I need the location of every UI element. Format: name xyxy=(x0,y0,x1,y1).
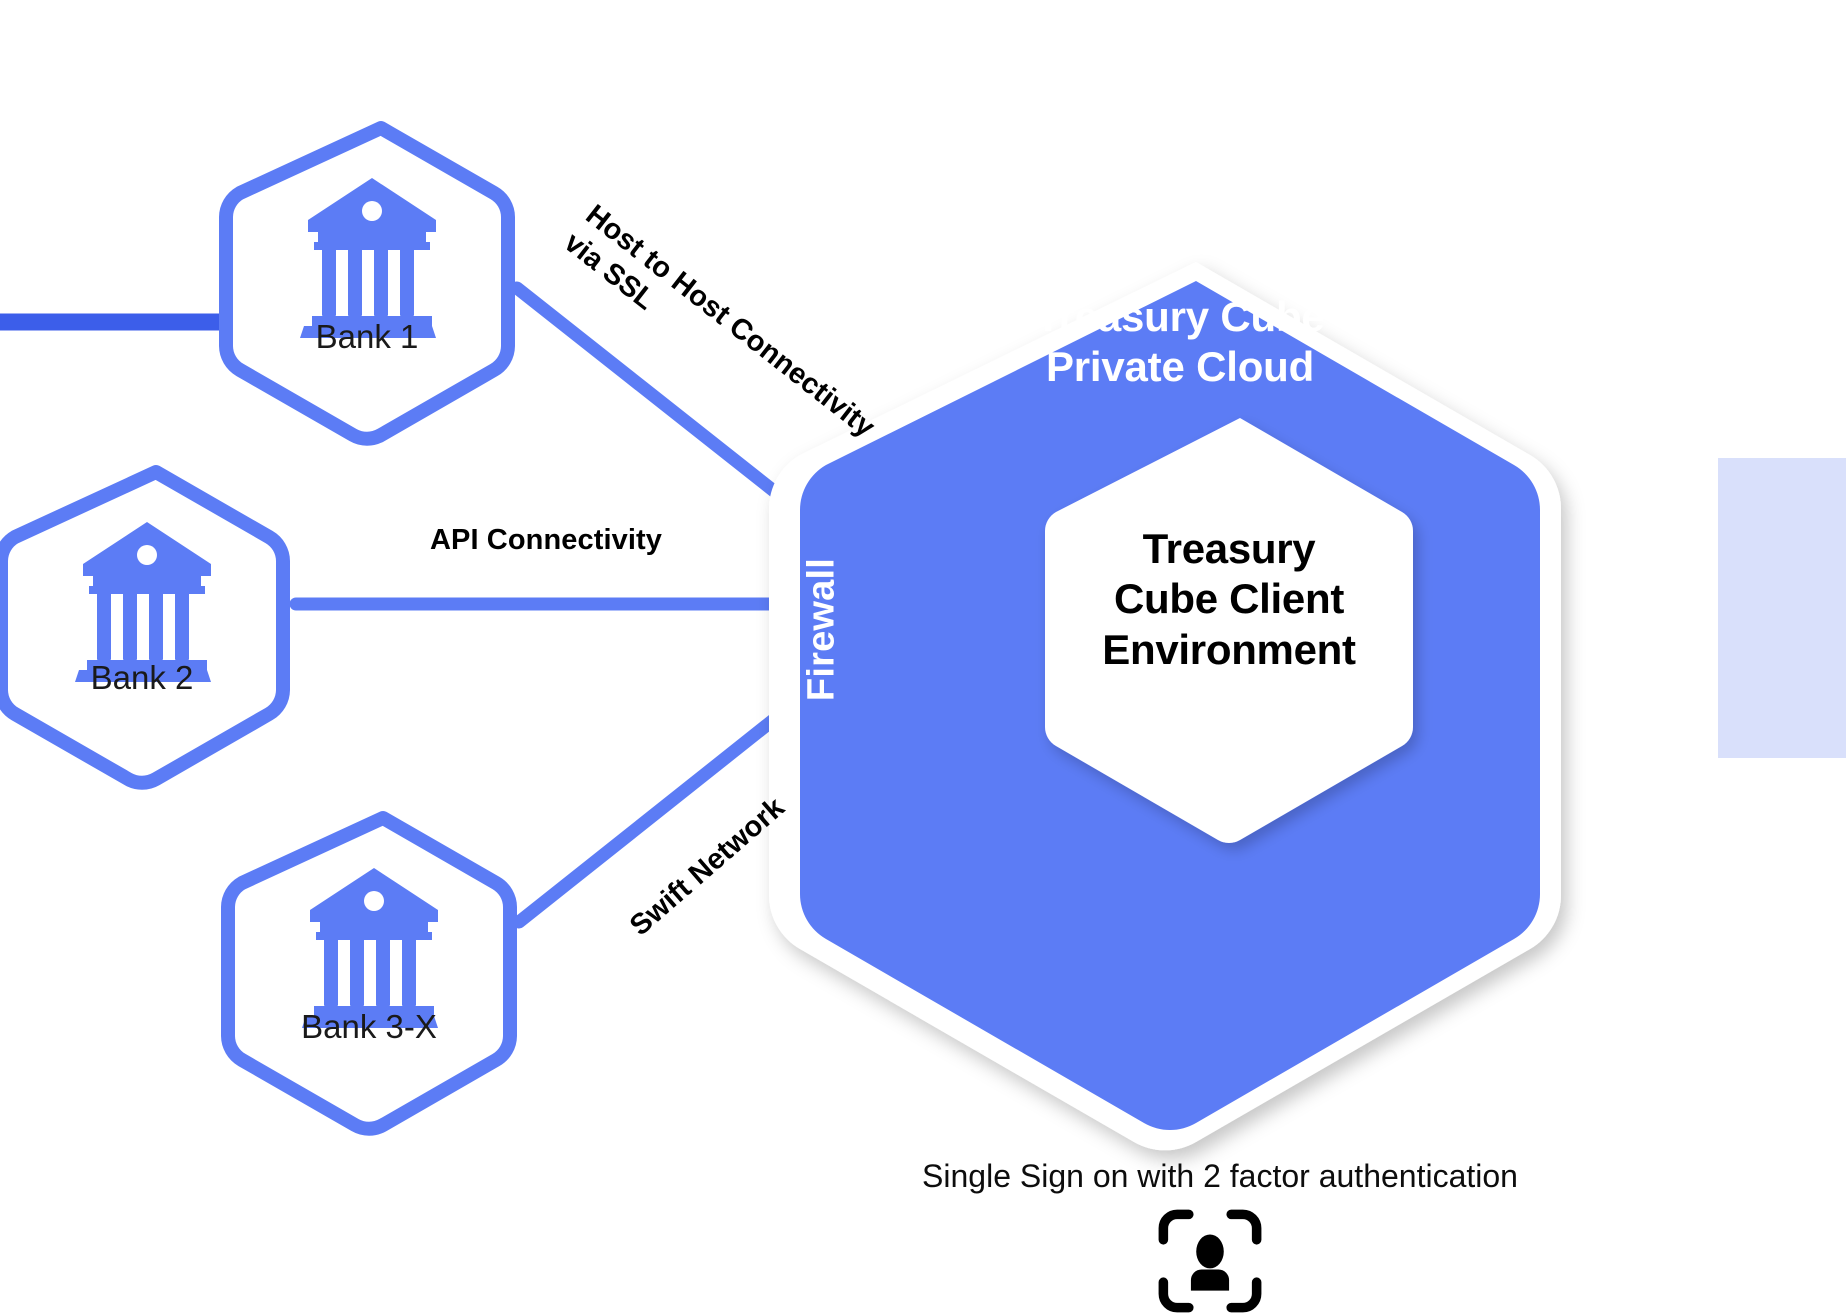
private-cloud-title: Treasury Cube Private Cloud xyxy=(940,292,1420,391)
face-id-person-icon xyxy=(1157,1208,1263,1314)
client-environment-label: Treasury Cube Client Environment xyxy=(1049,524,1409,675)
bank-1-label: Bank 1 xyxy=(226,318,508,356)
sso-text: Single Sign on with 2 factor authenticat… xyxy=(700,1158,1740,1195)
bank-3x-label: Bank 3-X xyxy=(228,1008,510,1046)
connection-label-swift: Swift Network xyxy=(624,747,842,943)
firewall-label: Firewall xyxy=(801,530,844,730)
connection-label-host-to-host: Host to Host Connectivity via SSL xyxy=(556,198,852,451)
connection-label-api: API Connectivity xyxy=(430,524,680,557)
bank-2-label: Bank 2 xyxy=(1,659,283,697)
diagram-canvas: Bank 1 Bank 2 Bank 3-X Host to Host Conn… xyxy=(0,0,1846,1314)
text-layer: Bank 1 Bank 2 Bank 3-X Host to Host Conn… xyxy=(0,0,1846,1314)
